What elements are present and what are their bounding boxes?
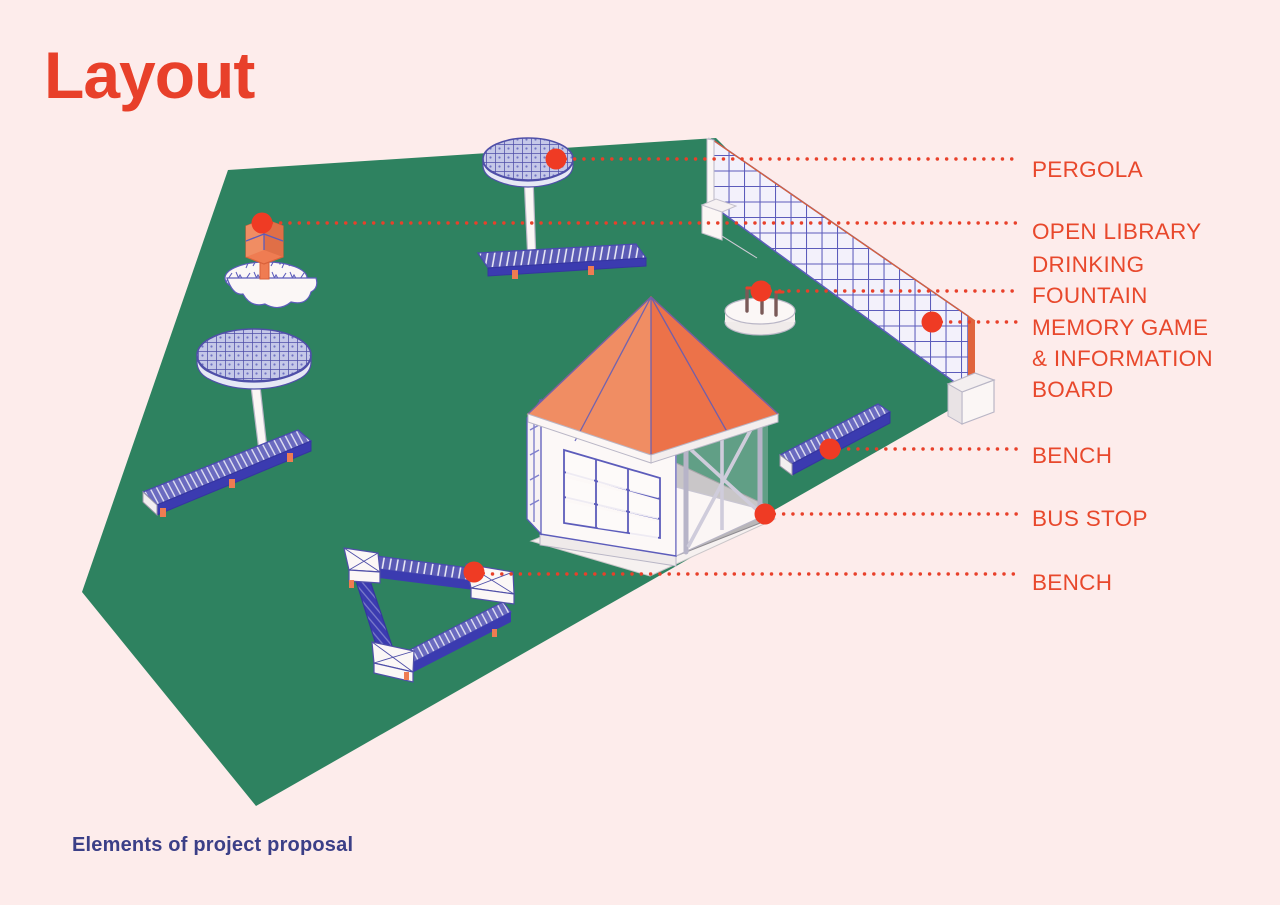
callout-marker-bus-stop[interactable] (755, 504, 776, 525)
callout-label-bench-bottom: BENCH (1032, 567, 1112, 598)
callout-label-bus-stop: BUS STOP (1032, 503, 1148, 534)
callout-marker-open-library[interactable] (252, 213, 273, 234)
callout-marker-bench-right[interactable] (820, 439, 841, 460)
callout-marker-drinking-fountain[interactable] (751, 281, 772, 302)
callout-label-pergola: PERGOLA (1032, 154, 1143, 185)
page-title: Layout (44, 42, 254, 108)
callout-marker-bench-bottom[interactable] (464, 562, 485, 583)
page-caption: Elements of project proposal (72, 834, 353, 857)
callout-marker-memory-game[interactable] (922, 312, 943, 333)
callout-label-memory-game: MEMORY GAME & INFORMATION BOARD (1032, 312, 1213, 405)
callout-label-bench-right: BENCH (1032, 440, 1112, 471)
callout-marker-pergola[interactable] (546, 149, 567, 170)
callout-label-drinking-fountain: DRINKING FOUNTAIN (1032, 249, 1148, 311)
callout-label-open-library: OPEN LIBRARY (1032, 216, 1202, 247)
